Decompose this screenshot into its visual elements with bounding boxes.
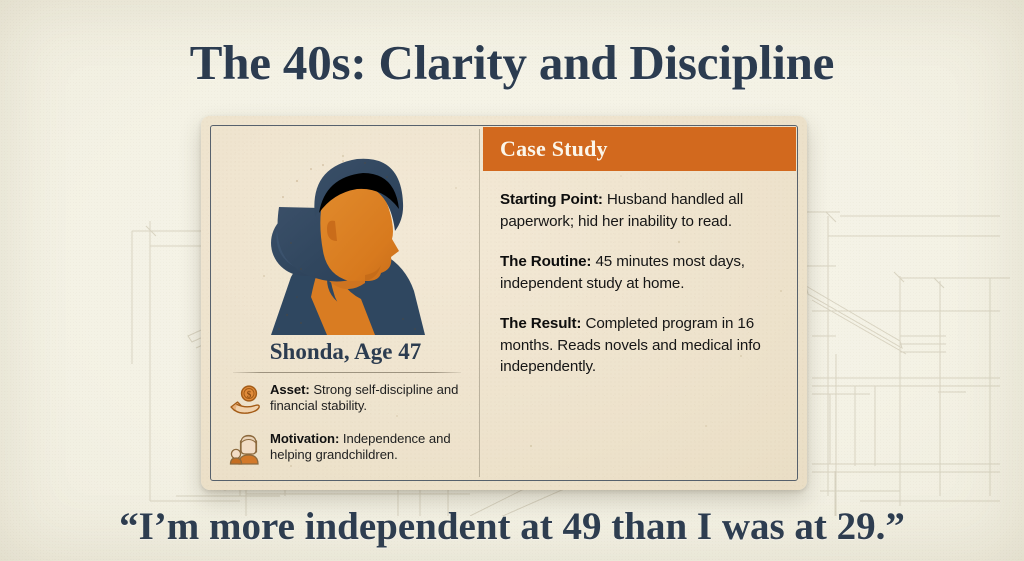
attribute-row-asset: $ Asset: Strong self-discipline and fina… xyxy=(228,382,471,417)
case-study-card: Shonda, Age 47 $ Asset: Strong self-disc… xyxy=(201,116,807,490)
pull-quote: “I’m more independent at 49 than I was a… xyxy=(0,504,1024,549)
svg-text:$: $ xyxy=(247,389,252,399)
attribute-motivation-label: Motivation: xyxy=(270,431,339,446)
attribute-row-motivation: Motivation: Independence and helping gra… xyxy=(228,431,471,466)
person-name: Shonda, Age 47 xyxy=(212,339,479,365)
panel-divider xyxy=(479,129,480,477)
case-label-result: The Result: xyxy=(500,315,581,332)
name-divider xyxy=(233,372,461,373)
woman-with-child-icon xyxy=(228,432,262,466)
attribute-motivation-text: Motivation: Independence and helping gra… xyxy=(270,431,471,464)
case-study-body: Starting Point: Husband handled all pape… xyxy=(483,171,796,479)
portrait-container xyxy=(212,141,479,335)
woman-profile-illustration xyxy=(253,147,439,335)
page-title: The 40s: Clarity and Discipline xyxy=(0,34,1024,91)
profile-panel: Shonda, Age 47 $ Asset: Strong self-disc… xyxy=(212,127,479,479)
case-study-header: Case Study xyxy=(483,127,796,171)
slide-canvas: The 40s: Clarity and Discipline xyxy=(0,0,1024,561)
case-label-routine: The Routine: xyxy=(500,253,591,270)
attribute-asset-label: Asset: xyxy=(270,382,310,397)
case-paragraph-routine: The Routine: 45 minutes most days, indep… xyxy=(500,251,782,294)
case-paragraph-starting-point: Starting Point: Husband handled all pape… xyxy=(500,189,782,232)
case-study-panel: Case Study Starting Point: Husband handl… xyxy=(483,127,796,479)
hand-holding-coin-icon: $ xyxy=(228,383,262,417)
attribute-asset-text: Asset: Strong self-discipline and financ… xyxy=(270,382,471,415)
case-study-header-label: Case Study xyxy=(500,136,608,162)
case-paragraph-result: The Result: Completed program in 16 mont… xyxy=(500,313,782,378)
case-label-starting-point: Starting Point: xyxy=(500,191,603,208)
